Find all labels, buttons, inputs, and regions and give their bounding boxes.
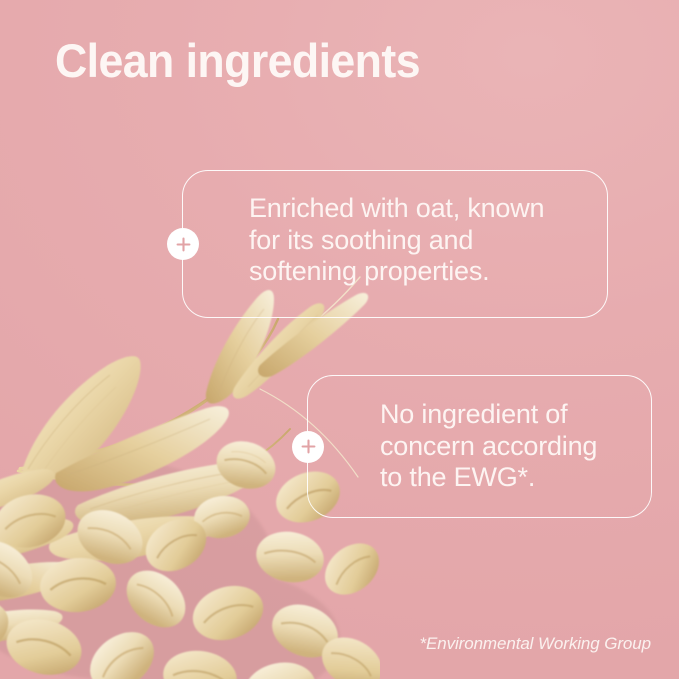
page-title: Clean ingredients	[55, 36, 420, 85]
benefit-card-text: Enriched with oat, known for its soothin…	[249, 193, 544, 288]
benefit-card-text: No ingredient of concern according to th…	[380, 399, 597, 494]
benefit-card-oat: Enriched with oat, known for its soothin…	[182, 170, 608, 318]
plus-icon	[292, 431, 324, 463]
plus-icon	[167, 228, 199, 260]
promo-card: Clean ingredients Enriched with oat, kno…	[0, 0, 679, 679]
benefit-card-ewg: No ingredient of concern according to th…	[307, 375, 652, 518]
background	[0, 0, 679, 679]
footnote: *Environmental Working Group	[419, 634, 651, 654]
